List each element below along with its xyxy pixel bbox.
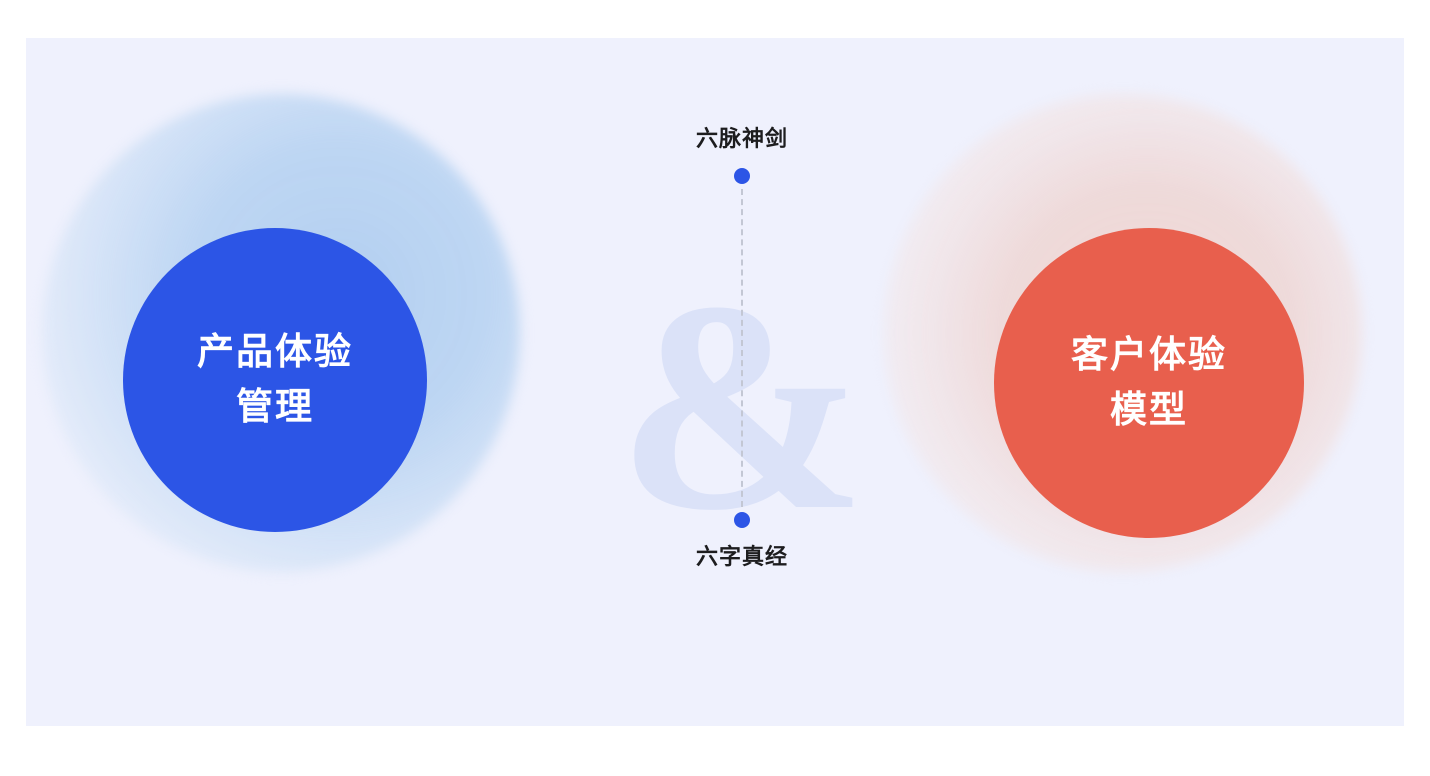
left-node-label-line-1: 产品体验 [197,325,353,380]
node-product-experience-management[interactable]: 产品体验 管理 [123,228,427,532]
right-node-label-line-1: 客户体验 [1071,328,1227,383]
connector-dashed-line [741,189,743,507]
connector-bottom-label: 六字真经 [696,546,788,568]
connector-top-dot-icon [734,168,750,184]
node-customer-experience-model[interactable]: 客户体验 模型 [994,228,1304,538]
right-node-label-line-2: 模型 [1110,383,1188,438]
diagram-canvas: & 产品体验 管理 客户体验 模型 六脉神剑 六字真经 [0,0,1430,776]
connector-bottom-dot-icon [734,512,750,528]
left-node-label-line-2: 管理 [236,380,314,435]
center-connector: 六脉神剑 六字真经 [587,128,897,668]
diagram-panel: & 产品体验 管理 客户体验 模型 六脉神剑 六字真经 [26,38,1404,726]
connector-top-label: 六脉神剑 [696,128,788,150]
